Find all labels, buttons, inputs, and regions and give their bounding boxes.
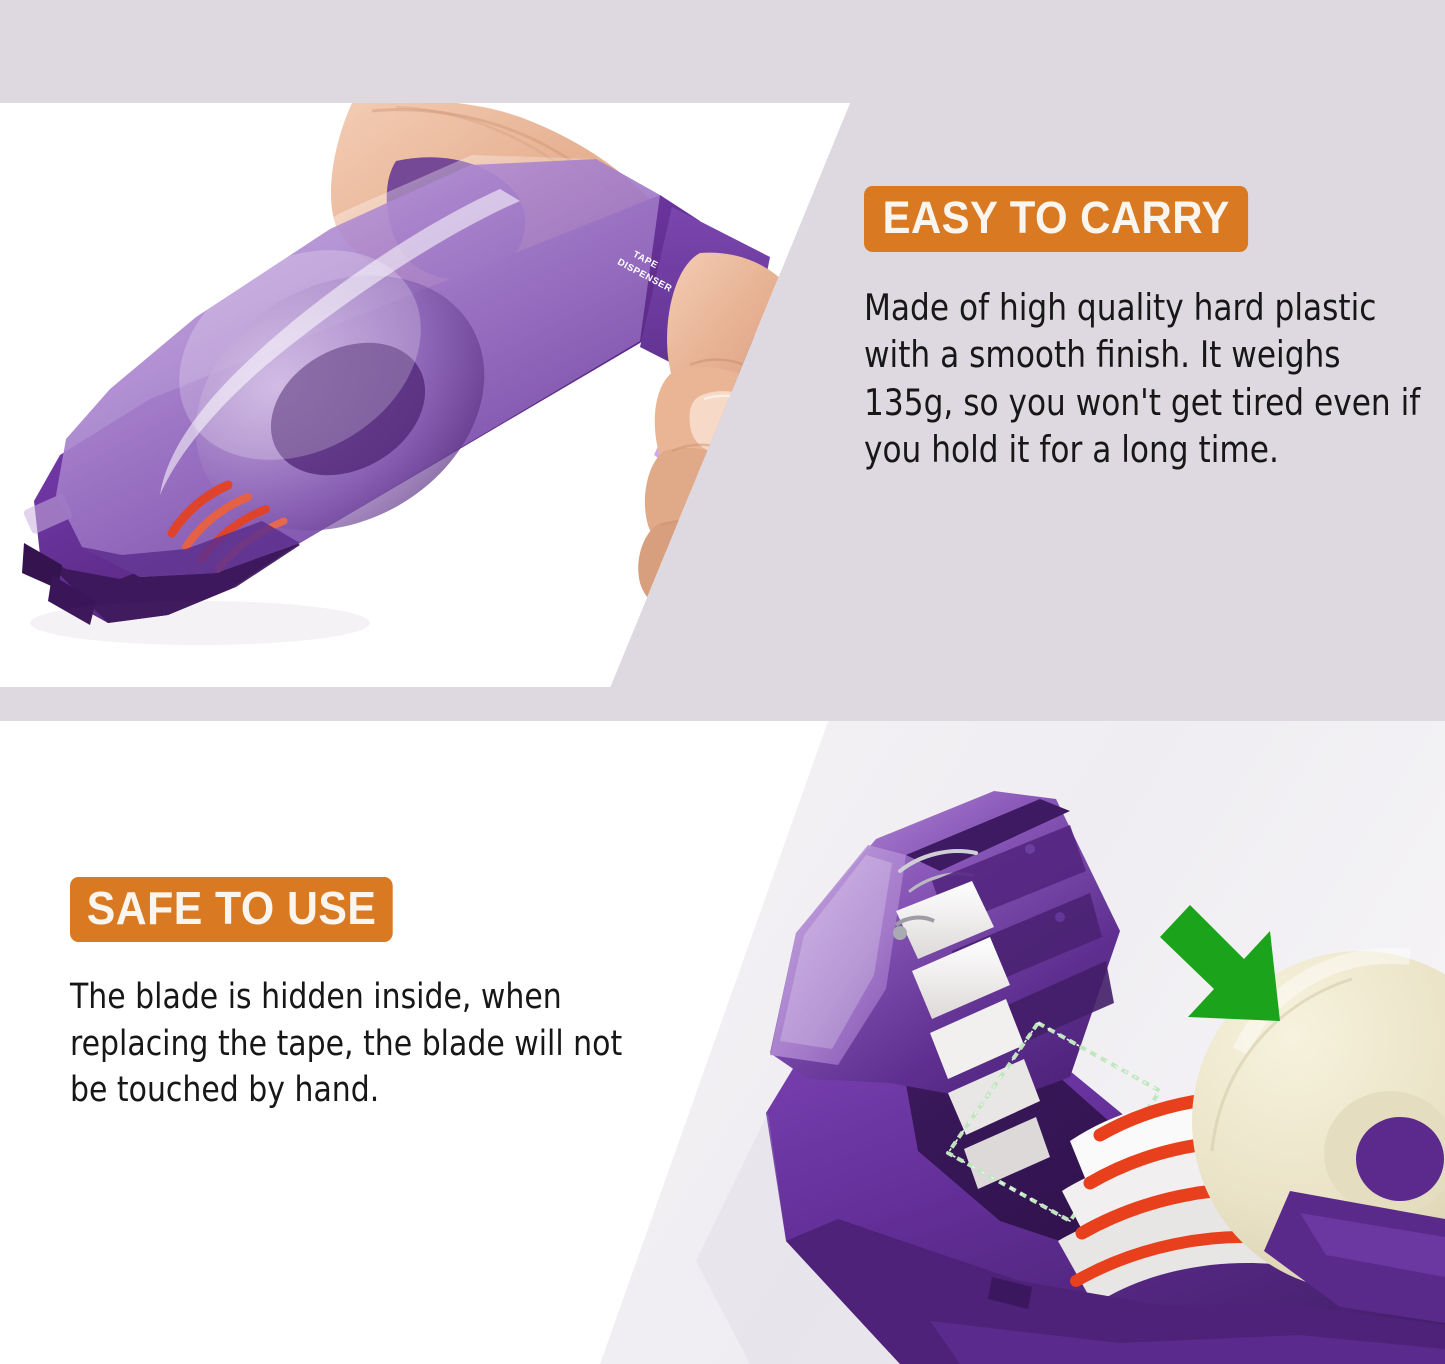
copy-safe-to-use: SAFE TO USE The blade is hidden inside, … <box>70 877 660 1114</box>
badge-easy-to-carry: EASY TO CARRY <box>864 186 1248 252</box>
lid-screw-2 <box>1055 912 1065 922</box>
tape-roll-core <box>1356 1117 1444 1201</box>
photo-hand-holding-dispenser: EAGLE TAPE DISPENSER Patent pending Made… <box>0 103 850 687</box>
top-photo-plate: EAGLE TAPE DISPENSER Patent pending Made… <box>0 103 850 687</box>
section-safe-to-use: SAFE TO USE The blade is hidden inside, … <box>0 721 1445 1364</box>
copy-easy-to-carry: EASY TO CARRY Made of high quality hard … <box>864 186 1420 473</box>
lid-screw-1 <box>1025 844 1035 854</box>
finger-pinky <box>638 521 745 619</box>
device-shadow <box>30 601 370 645</box>
green-arrow-icon <box>1160 905 1280 1021</box>
body-safe-to-use: The blade is hidden inside, when replaci… <box>70 974 660 1114</box>
section-easy-to-carry: EAGLE TAPE DISPENSER Patent pending Made… <box>0 0 1445 721</box>
badge-safe-to-use: SAFE TO USE <box>70 877 393 942</box>
bottom-photo-plate <box>600 721 1445 1364</box>
photo-open-dispenser <box>600 721 1445 1364</box>
body-easy-to-carry: Made of high quality hard plastic with a… <box>864 284 1428 473</box>
